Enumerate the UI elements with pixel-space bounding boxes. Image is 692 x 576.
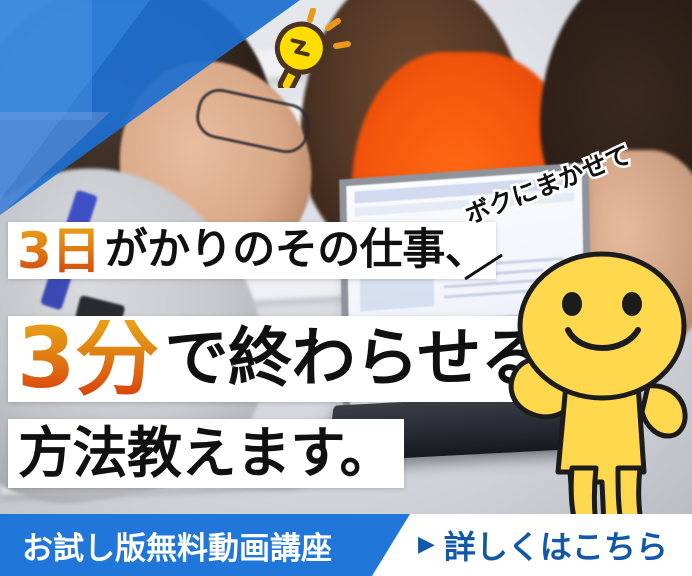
headline-line1-number: 3日 xyxy=(17,226,105,276)
blue-corner-flash-icon xyxy=(0,0,300,215)
headline-line1-text: がかりのその仕事、 xyxy=(105,229,488,272)
play-arrow-icon: ▶ xyxy=(418,534,435,556)
lightbulb-icon xyxy=(258,8,354,88)
headline-band-3: 方法教えます。 xyxy=(8,419,404,488)
cta-link[interactable]: ▶ 詳しくはこちら xyxy=(418,514,668,576)
cta-link-label: 詳しくはこちら xyxy=(444,522,668,568)
headline-line2-number: 3分 xyxy=(17,320,164,397)
headline-line3-text: 方法教えます。 xyxy=(18,426,394,481)
headline-line2-text: で終わらせる xyxy=(164,327,544,391)
headline-band-2: 3分 で終わらせる xyxy=(8,316,553,402)
headline-band-1: 3日 がかりのその仕事、 xyxy=(8,222,496,279)
smiley-mascot-icon xyxy=(498,236,692,536)
cta-bar[interactable]: お試し版無料動画講座 ▶ 詳しくはこちら xyxy=(0,514,692,576)
ad-banner[interactable]: 3日 がかりのその仕事、 3分 で終わらせる 方法教えます。 ボクにまかせて xyxy=(0,0,692,576)
cta-badge-label: お試し版無料動画講座 xyxy=(22,514,332,576)
